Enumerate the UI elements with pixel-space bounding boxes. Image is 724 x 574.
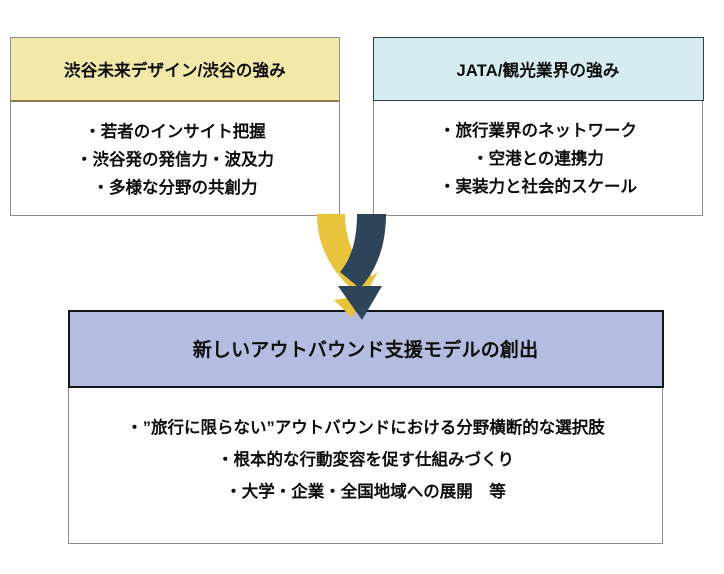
box-shibuya-header: 渋谷未来デザイン/渋谷の強み	[11, 38, 339, 102]
box-shibuya-body: ・若者のインサイト把握 ・渋谷発の発信力・波及力 ・多様な分野の共創力	[11, 102, 339, 215]
box-jata-body: ・旅行業界のネットワーク ・空港との連携力 ・実装力と社会的スケール	[374, 101, 702, 216]
box-new-outbound-model[interactable]: 新しいアウトバウンド支援モデルの創出 ・”旅行に限らない”アウトバウンドにおける…	[68, 310, 663, 544]
box-jata-header: JATA/観光業界の強み	[373, 37, 704, 101]
bullet-item: ・渋谷発の発信力・波及力	[76, 146, 274, 174]
bullet-item: ・空港との連携力	[472, 145, 604, 173]
box-outcome-header: 新しいアウトバウンド支援モデルの創出	[68, 310, 664, 388]
bullet-item: ・”旅行に限らない”アウトバウンドにおける分野横断的な選択肢	[126, 412, 605, 444]
diagram-canvas: 渋谷未来デザイン/渋谷の強み ・若者のインサイト把握 ・渋谷発の発信力・波及力 …	[0, 0, 724, 574]
bullet-item: ・旅行業界のネットワーク	[439, 117, 637, 145]
bullet-item: ・若者のインサイト把握	[84, 118, 266, 146]
box-outcome-body: ・”旅行に限らない”アウトバウンドにおける分野横断的な選択肢 ・根本的な行動変容…	[69, 388, 662, 544]
box-shibuya-strengths[interactable]: 渋谷未来デザイン/渋谷の強み ・若者のインサイト把握 ・渋谷発の発信力・波及力 …	[10, 37, 340, 216]
box-jata-strengths[interactable]: JATA/観光業界の強み ・旅行業界のネットワーク ・空港との連携力 ・実装力と…	[373, 37, 703, 216]
curved-arrow-right-icon	[338, 214, 386, 320]
bullet-item: ・実装力と社会的スケール	[439, 173, 637, 201]
bullet-item: ・根本的な行動変容を促す仕組みづくり	[217, 444, 514, 476]
bullet-item: ・多様な分野の共創力	[93, 174, 258, 202]
curved-arrow-left-icon	[317, 214, 378, 318]
bullet-item: ・大学・企業・全国地域への展開 等	[225, 476, 506, 508]
